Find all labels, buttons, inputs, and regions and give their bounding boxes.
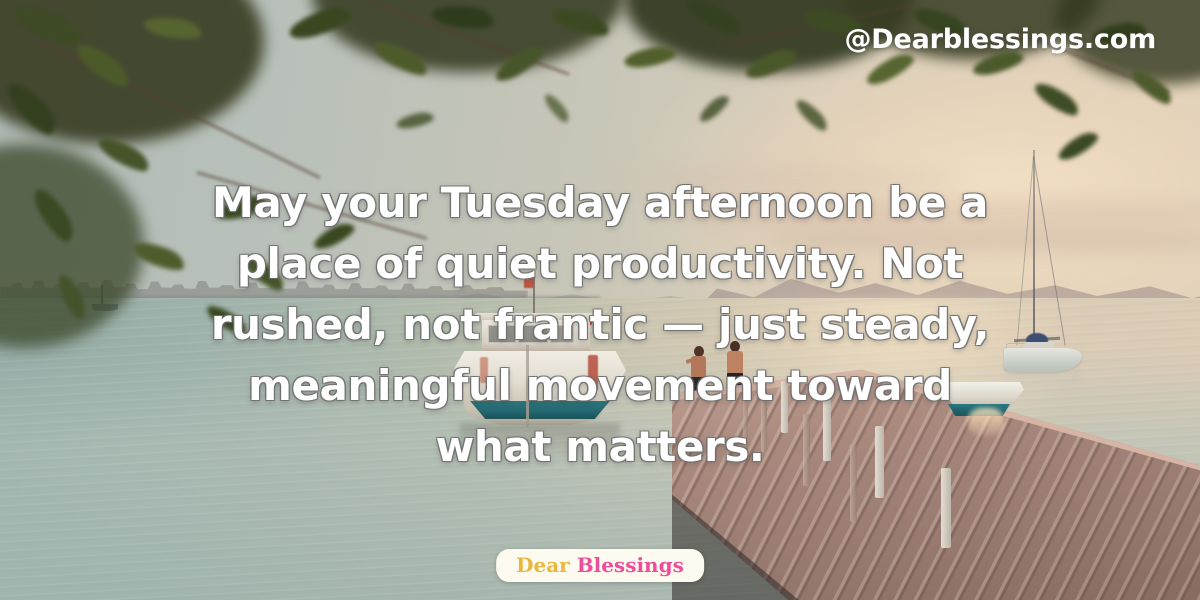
quote-text: May your Tuesday afternoon be a place of… (170, 172, 1030, 477)
distant-small-boat (86, 285, 128, 311)
forestay (1033, 156, 1066, 346)
brand-word-dear: Dear (516, 553, 570, 577)
brand-word-blessings: Blessings (577, 553, 684, 577)
mast (101, 285, 103, 305)
quote-image-canvas: @Dearblessings.com May your Tuesday afte… (0, 0, 1200, 600)
hull (92, 304, 118, 311)
brand-badge[interactable]: Dear Blessings (496, 549, 704, 582)
site-watermark: @Dearblessings.com (844, 24, 1156, 55)
mast (1033, 150, 1035, 346)
pier-post (941, 468, 951, 548)
